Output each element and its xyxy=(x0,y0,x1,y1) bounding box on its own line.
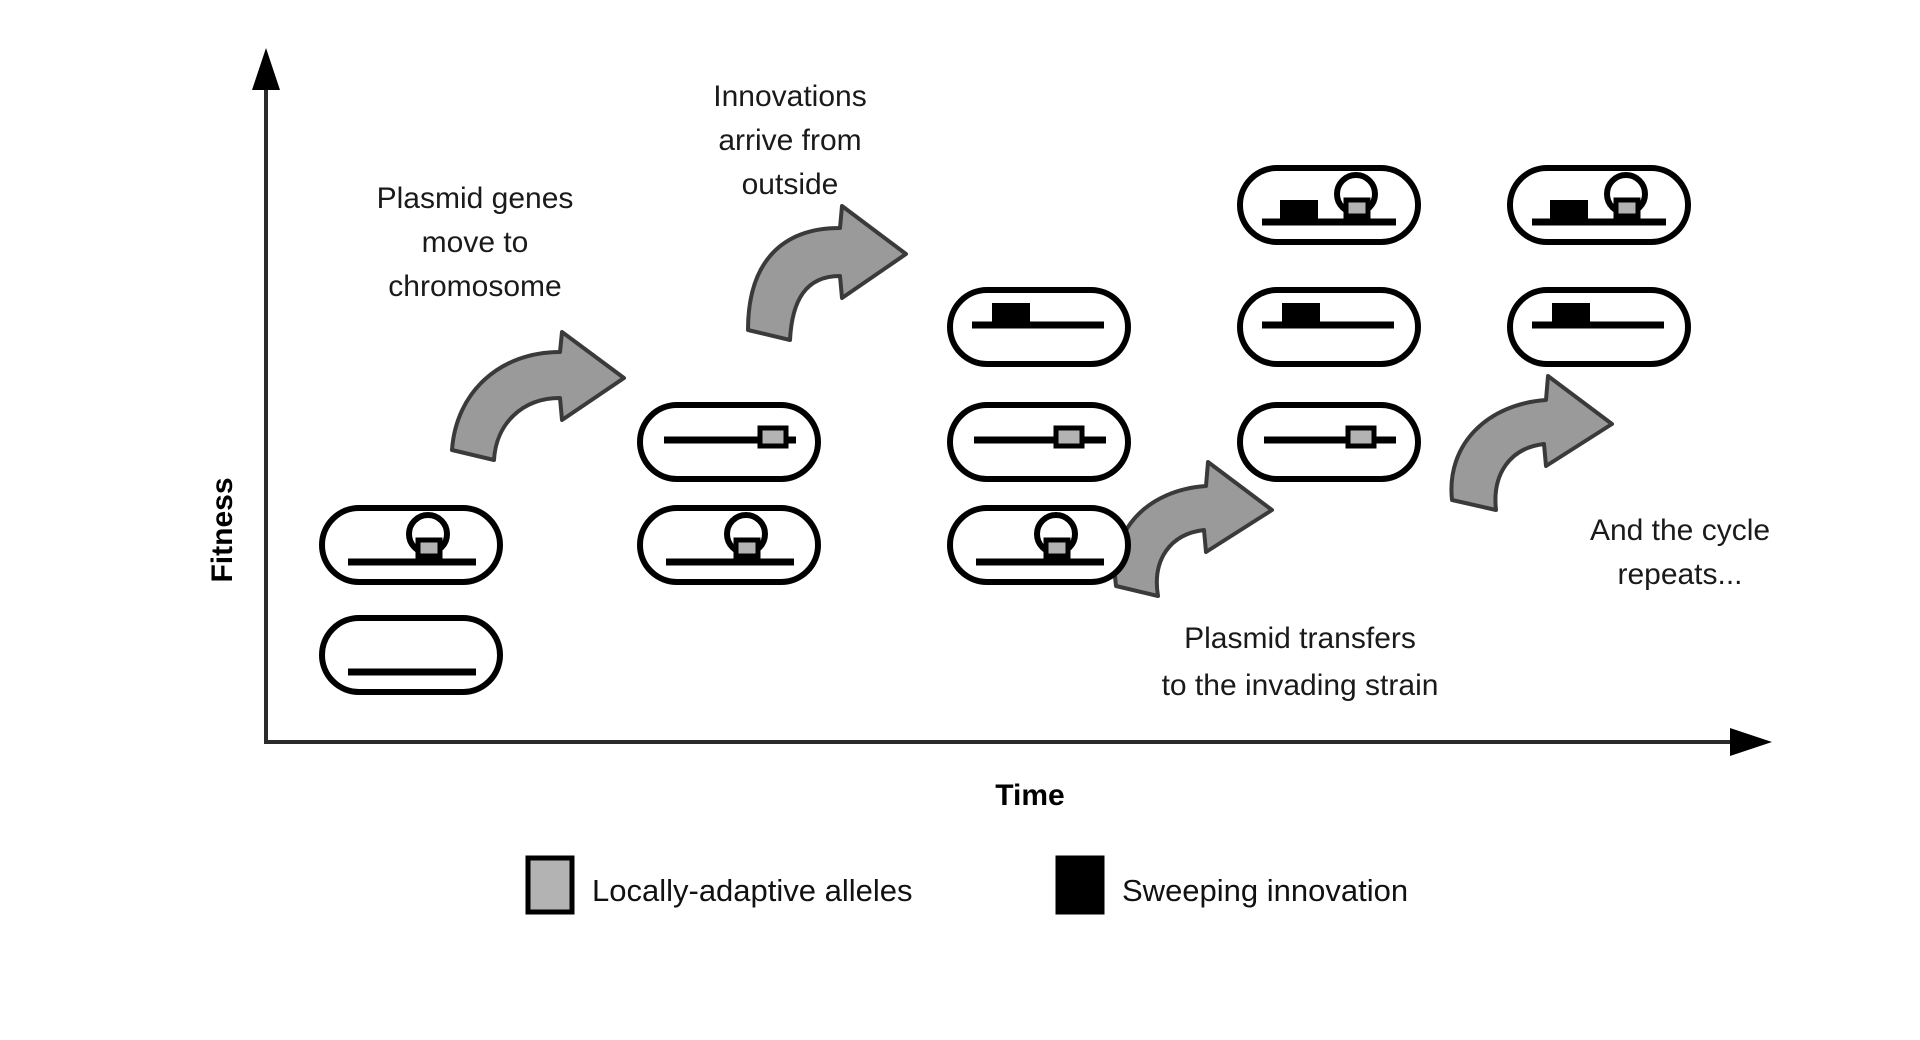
plasmid-icon xyxy=(409,515,447,556)
plasmid-icon xyxy=(727,515,765,556)
plasmid-icon xyxy=(1607,175,1645,216)
cell-c5-black xyxy=(1510,290,1688,364)
cell-c3-black xyxy=(950,290,1128,364)
cell-c4-black-plasmid xyxy=(1240,168,1418,242)
cell-c5-black-plasmid xyxy=(1510,168,1688,242)
figure-root: Fitness Time Plasmid genes move to chrom… xyxy=(0,0,1920,1040)
annotation-line: arrive from xyxy=(718,124,861,157)
annotation-line: Plasmid transfers xyxy=(1184,622,1416,655)
annotation-line: to the invading strain xyxy=(1162,669,1439,702)
cell-membrane xyxy=(322,618,500,692)
cell-c2-gray-allele xyxy=(640,405,818,479)
legend-swatch-sweeping-innovation-icon xyxy=(1058,858,1102,912)
chromosome-locally-adaptive-allele xyxy=(760,428,786,446)
cell-c4-black xyxy=(1240,290,1418,364)
diagram-canvas: Fitness Time Plasmid genes move to chrom… xyxy=(0,0,1920,1040)
cell-c4-gray-allele xyxy=(1240,405,1418,479)
chromosome-sweeping-innovation xyxy=(992,303,1030,325)
annotation-line: And the cycle xyxy=(1590,514,1770,547)
cell-c3-gray-allele xyxy=(950,405,1128,479)
legend-swatch-locally-adaptive-icon xyxy=(528,858,572,912)
annotation-line: Plasmid genes xyxy=(377,182,574,215)
annotation-line: chromosome xyxy=(388,270,561,303)
plasmid-locally-adaptive-allele xyxy=(1616,200,1638,216)
plasmid-locally-adaptive-allele xyxy=(418,540,440,556)
legend-label-locally-adaptive: Locally-adaptive alleles xyxy=(592,873,913,908)
cell-c1-plain xyxy=(322,618,500,692)
annotation-line: outside xyxy=(742,168,839,201)
annotation-line: repeats... xyxy=(1617,558,1742,591)
chromosome-locally-adaptive-allele xyxy=(1348,428,1374,446)
chromosome-sweeping-innovation xyxy=(1552,303,1590,325)
y-axis-label: Fitness xyxy=(206,477,239,582)
plasmid-icon xyxy=(1337,175,1375,216)
cell-membrane xyxy=(1510,168,1688,242)
plasmid-locally-adaptive-allele xyxy=(1346,200,1368,216)
plasmid-locally-adaptive-allele xyxy=(1046,540,1068,556)
chromosome-locally-adaptive-allele xyxy=(1056,428,1082,446)
plasmid-icon xyxy=(1037,515,1075,556)
cell-c2-plasmid xyxy=(640,508,818,582)
chromosome-sweeping-innovation xyxy=(1550,200,1588,222)
chromosome-sweeping-innovation xyxy=(1282,303,1320,325)
annotation-line: Innovations xyxy=(713,80,866,113)
x-axis-label: Time xyxy=(995,779,1064,812)
legend-label-sweeping-innovation: Sweeping innovation xyxy=(1122,873,1408,908)
annotation-line: move to xyxy=(422,226,529,259)
plasmid-locally-adaptive-allele xyxy=(736,540,758,556)
cell-c3-plasmid xyxy=(950,508,1128,582)
chromosome-sweeping-innovation xyxy=(1280,200,1318,222)
cell-membrane xyxy=(1240,168,1418,242)
cell-c1-plasmid xyxy=(322,508,500,582)
